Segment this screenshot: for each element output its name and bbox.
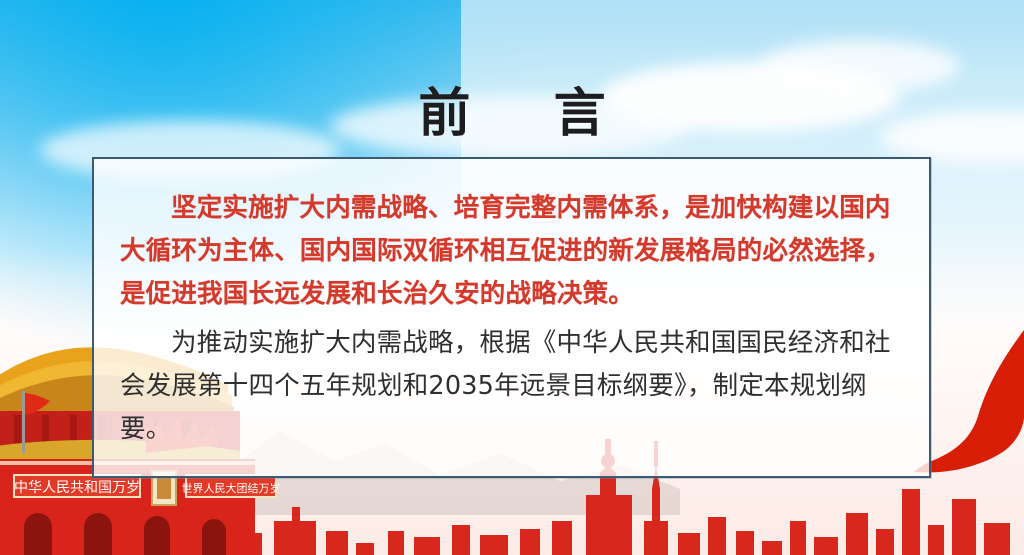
cloud-decoration [760, 40, 960, 92]
svg-text:中华人民共和国万岁: 中华人民共和国万岁 [14, 480, 140, 496]
page-title: 前 言 [0, 88, 1024, 140]
svg-text:世界人民大团结万岁: 世界人民大团结万岁 [182, 481, 281, 495]
content-box: 坚定实施扩大内需战略、培育完整内需体系，是加快构建以国内大循环为主体、国内国际双… [92, 157, 931, 478]
paragraph-highlight: 坚定实施扩大内需战略、培育完整内需体系，是加快构建以国内大循环为主体、国内国际双… [120, 187, 903, 316]
preface-slide: 中华人民共和国万岁 世界人民大团结万岁 前 言 坚定实施扩大内需战略、培育完整内… [0, 0, 1024, 555]
paragraph-body: 为推动实施扩大内需战略，根据《中华人民共和国国民经济和社会发展第十四个五年规划和… [120, 322, 903, 451]
